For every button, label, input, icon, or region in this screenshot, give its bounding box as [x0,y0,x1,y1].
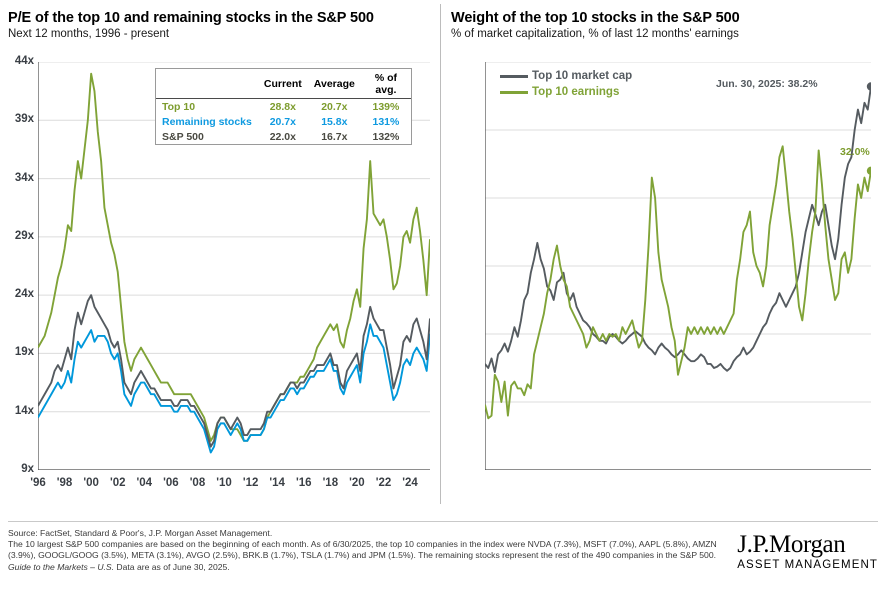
legend-label-market-cap: Top 10 market cap [532,70,632,82]
th-blank [156,69,258,99]
row-average: 20.7x [308,99,361,115]
x-tick-label: '08 [182,477,212,489]
left-chart-title: P/E of the top 10 and remaining stocks i… [8,10,440,26]
x-tick-label: '24 [395,477,425,489]
x-tick-label: '06 [156,477,186,489]
endpoint-marker-top-10-market-cap [867,82,871,90]
legend-item-earnings: Top 10 earnings [500,86,632,98]
table-header-row: Current Average % of avg. [156,69,411,99]
row-current: 20.7x [258,114,308,129]
table-row: Top 1028.8x20.7x139% [156,99,411,115]
right-chart-title: Weight of the top 10 stocks in the S&P 5… [451,10,886,26]
y-tick-label: 14x [0,405,34,417]
y-tick-label: 19x [0,346,34,358]
x-tick-label: '14 [262,477,292,489]
th-pct-of-avg: % of avg. [361,69,411,99]
row-average: 16.7x [308,129,361,144]
logo-tagline: ASSET MANAGEMENT [737,559,878,571]
annotation-market-cap-latest: Jun. 30, 2025: 38.2% [716,78,818,90]
footer-rule [8,521,878,522]
x-tick-label: '22 [368,477,398,489]
x-tick-label: '04 [129,477,159,489]
pe-stats-table: Current Average % of avg. Top 1028.8x20.… [155,68,412,145]
y-tick-label: 9x [0,463,34,475]
footer-note: The 10 largest S&P 500 companies are bas… [8,539,728,561]
series-line-remaining-stocks [38,324,430,452]
row-pct: 139% [361,99,411,115]
footer-guide: Guide to the Markets – U.S. Data are as … [8,562,728,573]
left-chart-panel: P/E of the top 10 and remaining stocks i… [0,0,440,520]
th-average: Average [308,69,361,99]
row-label: Top 10 [156,99,258,115]
table-row: Remaining stocks20.7x15.8x131% [156,114,411,129]
row-current: 22.0x [258,129,308,144]
guide-to-markets-slide: P/E of the top 10 and remaining stocks i… [0,0,886,594]
legend-label-earnings: Top 10 earnings [532,86,619,98]
row-average: 15.8x [308,114,361,129]
series-line-top-10-earnings [485,146,871,418]
table-row: S&P 50022.0x16.7x132% [156,129,411,144]
left-chart-subtitle: Next 12 months, 1996 - present [8,28,440,40]
row-pct: 132% [361,129,411,144]
x-tick-label: '02 [103,477,133,489]
x-tick-label: '00 [76,477,106,489]
y-tick-label: 29x [0,230,34,242]
footer-source: Source: FactSet, Standard & Poor's, J.P.… [8,528,728,539]
weight-chart-svg [485,62,871,470]
th-current: Current [258,69,308,99]
row-label: Remaining stocks [156,114,258,129]
y-tick-label: 39x [0,113,34,125]
x-tick-label: '12 [236,477,266,489]
weight-plot-area [485,62,871,470]
row-current: 28.8x [258,99,308,115]
row-pct: 131% [361,114,411,129]
legend-swatch-market-cap [500,75,528,78]
x-tick-label: '96 [23,477,53,489]
right-chart-subtitle: % of market capitalization, % of last 12… [451,28,886,40]
footer-guide-rest: Data are as of June 30, 2025. [114,562,230,572]
footer-block: Source: FactSet, Standard & Poor's, J.P.… [8,528,728,573]
legend-swatch-earnings [500,91,528,94]
annotation-earnings-latest: 32.0% [840,146,870,158]
y-tick-label: 34x [0,172,34,184]
x-tick-label: '18 [315,477,345,489]
x-tick-label: '10 [209,477,239,489]
footer-guide-italic: Guide to the Markets – U.S. [8,562,114,572]
x-tick-label: '98 [50,477,80,489]
endpoint-marker-top-10-earnings [867,167,871,175]
jpmorgan-logo: J.P.Morgan ASSET MANAGEMENT [737,531,878,571]
y-tick-label: 44x [0,55,34,67]
legend-item-market-cap: Top 10 market cap [500,70,632,82]
x-tick-label: '20 [342,477,372,489]
y-tick-label: 24x [0,288,34,300]
weight-chart-legend: Top 10 market cap Top 10 earnings [500,70,632,102]
logo-wordmark: J.P.Morgan [737,531,878,558]
row-label: S&P 500 [156,129,258,144]
x-tick-label: '16 [289,477,319,489]
panel-divider [440,4,441,504]
series-line-s-p-500 [38,295,430,447]
